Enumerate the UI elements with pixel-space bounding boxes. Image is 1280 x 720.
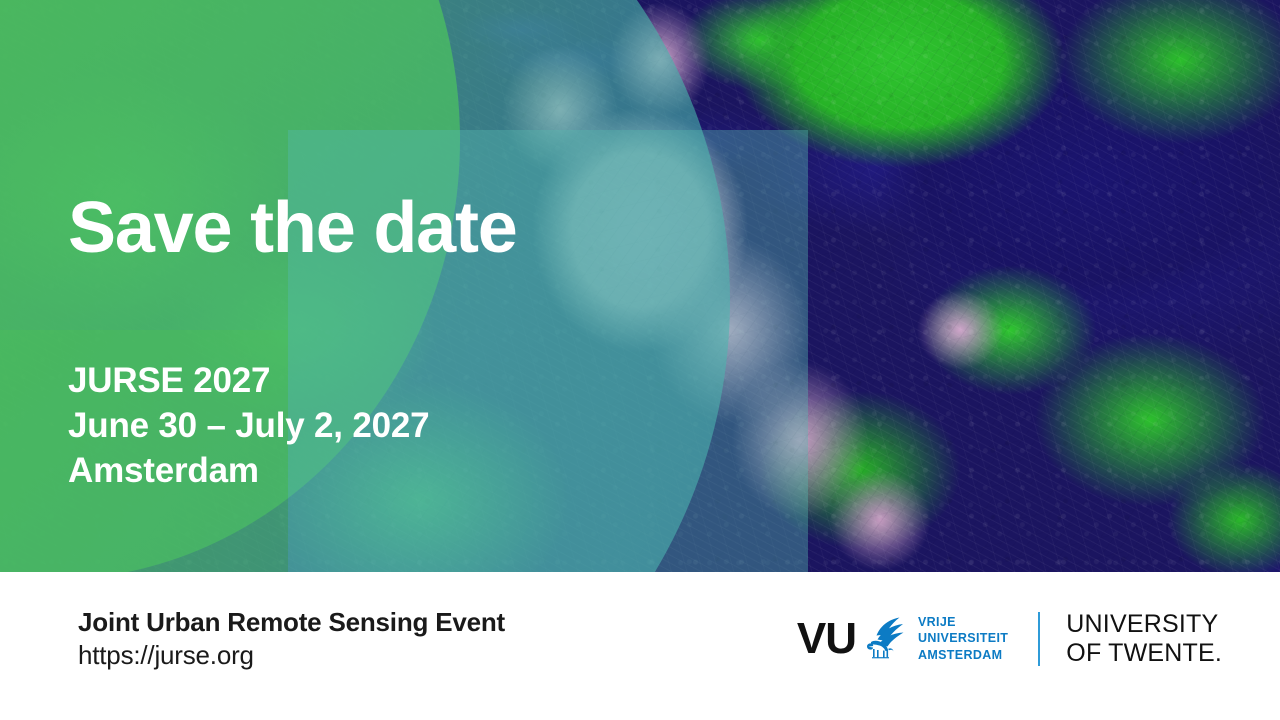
ut-wordmark-line-1: UNIVERSITY xyxy=(1066,610,1222,639)
event-name-year: JURSE 2027 xyxy=(68,358,429,403)
vu-monogram: VU xyxy=(797,617,856,661)
logo-divider xyxy=(1038,612,1040,666)
partner-logos: VU xyxy=(797,610,1222,667)
university-of-twente-logo[interactable]: UNIVERSITY OF TWENTE. xyxy=(1066,610,1222,667)
event-website-link[interactable]: https://jurse.org xyxy=(78,639,505,673)
event-city: Amsterdam xyxy=(68,448,429,493)
vu-wordmark: VRIJE UNIVERSITEIT AMSTERDAM xyxy=(918,614,1008,664)
footer-bar: Joint Urban Remote Sensing Event https:/… xyxy=(0,572,1280,720)
event-full-name: Joint Urban Remote Sensing Event xyxy=(78,606,505,639)
hero-banner: Save the date JURSE 2027 June 30 – July … xyxy=(0,0,1280,572)
vu-griffin-icon xyxy=(862,616,904,662)
vu-wordmark-line-1: VRIJE xyxy=(918,614,1008,631)
footer-text-block: Joint Urban Remote Sensing Event https:/… xyxy=(78,606,505,673)
headline: Save the date xyxy=(68,192,517,264)
vu-amsterdam-logo[interactable]: VU xyxy=(797,614,1008,664)
ut-wordmark-line-2: OF TWENTE. xyxy=(1066,639,1222,668)
vu-wordmark-line-2: UNIVERSITEIT xyxy=(918,630,1008,647)
event-dates: June 30 – July 2, 2027 xyxy=(68,403,429,448)
save-the-date-poster: Save the date JURSE 2027 June 30 – July … xyxy=(0,0,1280,720)
event-details: JURSE 2027 June 30 – July 2, 2027 Amster… xyxy=(68,358,429,493)
vu-wordmark-line-3: AMSTERDAM xyxy=(918,647,1008,664)
